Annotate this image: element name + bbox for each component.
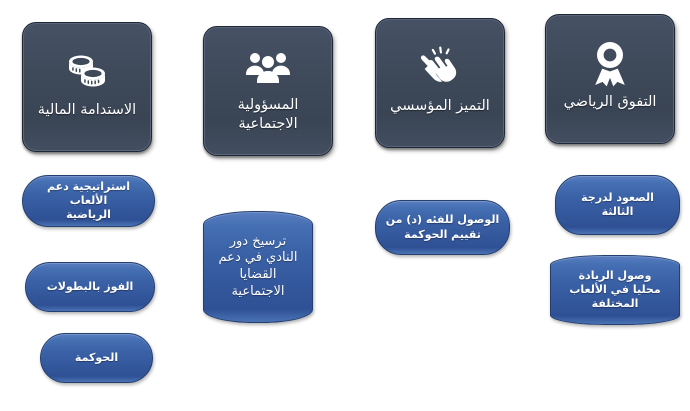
pillar-label: المسؤولية الاجتماعية	[238, 96, 299, 135]
goal-sports-games-support-strategy[interactable]: استراتيجية دعم الألعاب الرياضية	[22, 175, 155, 227]
clapping-hands-icon	[414, 45, 466, 91]
pillar-label: التفوق الرياضي	[564, 93, 657, 112]
goal-reach-category-d-governance[interactable]: الوصول للفئه (د) من تقييم الحوكمة	[375, 200, 510, 255]
pillar-card-social-responsibility[interactable]: المسؤولية الاجتماعية	[203, 26, 333, 156]
pillar-label: الاستدامة المالية	[38, 101, 136, 120]
award-ribbon-icon	[584, 41, 636, 87]
people-group-icon	[242, 44, 294, 90]
goal-club-role-social-causes[interactable]: ترسيخ دور النادي في دعم القضايا الاجتماع…	[203, 211, 313, 323]
goal-win-championships[interactable]: الفوز بالبطولات	[25, 262, 155, 312]
pillar-card-institutional-excellence[interactable]: التميز المؤسسي	[375, 18, 505, 148]
goal-governance[interactable]: الحوكمة	[40, 333, 153, 383]
goal-promotion-third-division[interactable]: الصعود لدرجة الثالثة	[555, 175, 680, 235]
pillar-label: التميز المؤسسي	[390, 97, 490, 116]
pillar-card-sporting-excellence[interactable]: التفوق الرياضي	[545, 14, 675, 144]
coins-icon	[61, 49, 113, 95]
pillar-card-financial-sustainability[interactable]: الاستدامة المالية	[22, 22, 152, 152]
goal-local-leadership-various-games[interactable]: وصول الريادة محليا في الألعاب المختلفة	[550, 255, 680, 325]
strategy-board: الاستدامة المالية المسؤولية الاجتماعية	[0, 0, 690, 411]
